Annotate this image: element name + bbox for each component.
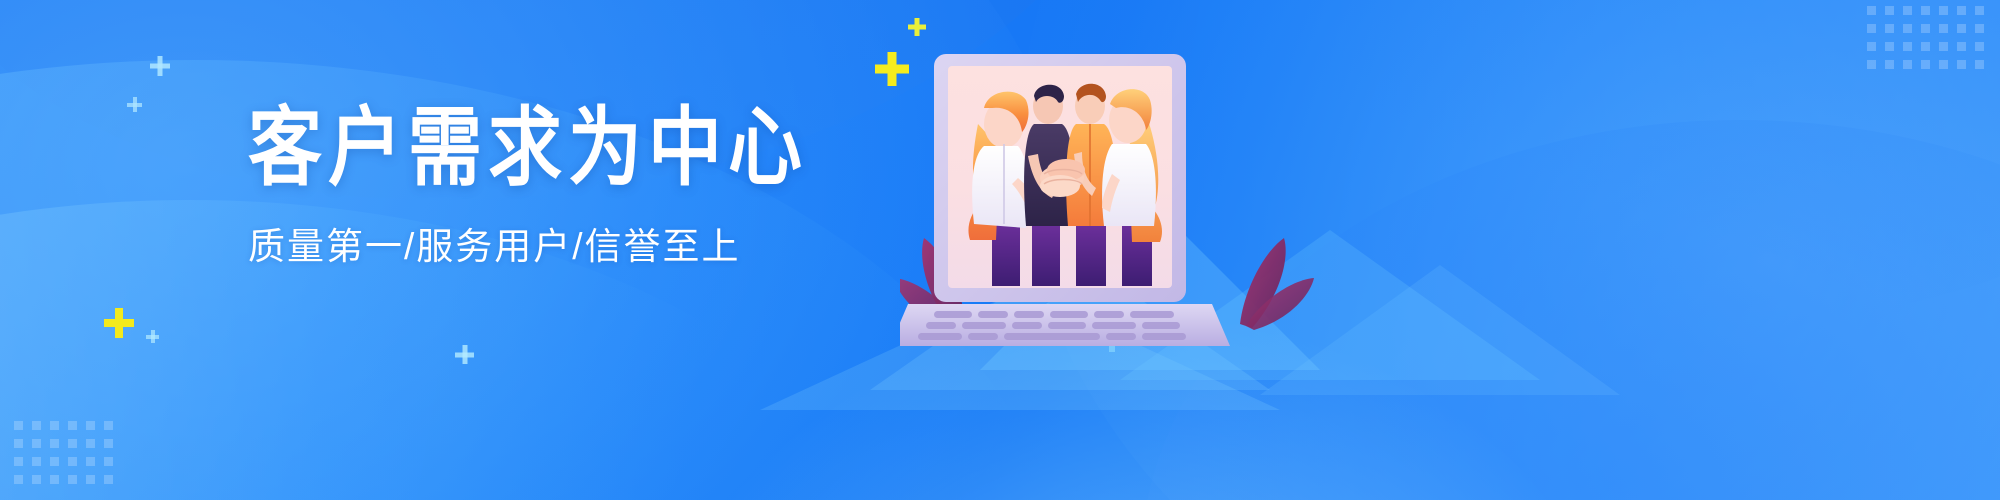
- dot-grid-top-right-icon: [1867, 6, 1984, 69]
- plus-sparkle-cyan-4-icon: [146, 330, 159, 343]
- leaf-decoration-right: [1240, 238, 1314, 330]
- dot-grid-bottom-left-icon: [14, 421, 113, 484]
- banner-headline: 客户需求为中心: [248, 104, 808, 192]
- plus-sparkle-cyan-1-icon: [150, 56, 170, 76]
- banner-copy: 客户需求为中心 质量第一/服务用户/信誉至上: [248, 104, 808, 270]
- plus-sparkle-yellow-bottom-icon: [104, 308, 134, 338]
- promo-banner: 客户需求为中心 质量第一/服务用户/信誉至上: [0, 0, 2000, 500]
- plus-sparkle-cyan-2-icon: [127, 97, 142, 112]
- laptop-teamwork-illustration: [900, 28, 1320, 358]
- banner-subline: 质量第一/服务用户/信誉至上: [248, 225, 808, 269]
- plus-sparkle-cyan-3-icon: [455, 345, 474, 364]
